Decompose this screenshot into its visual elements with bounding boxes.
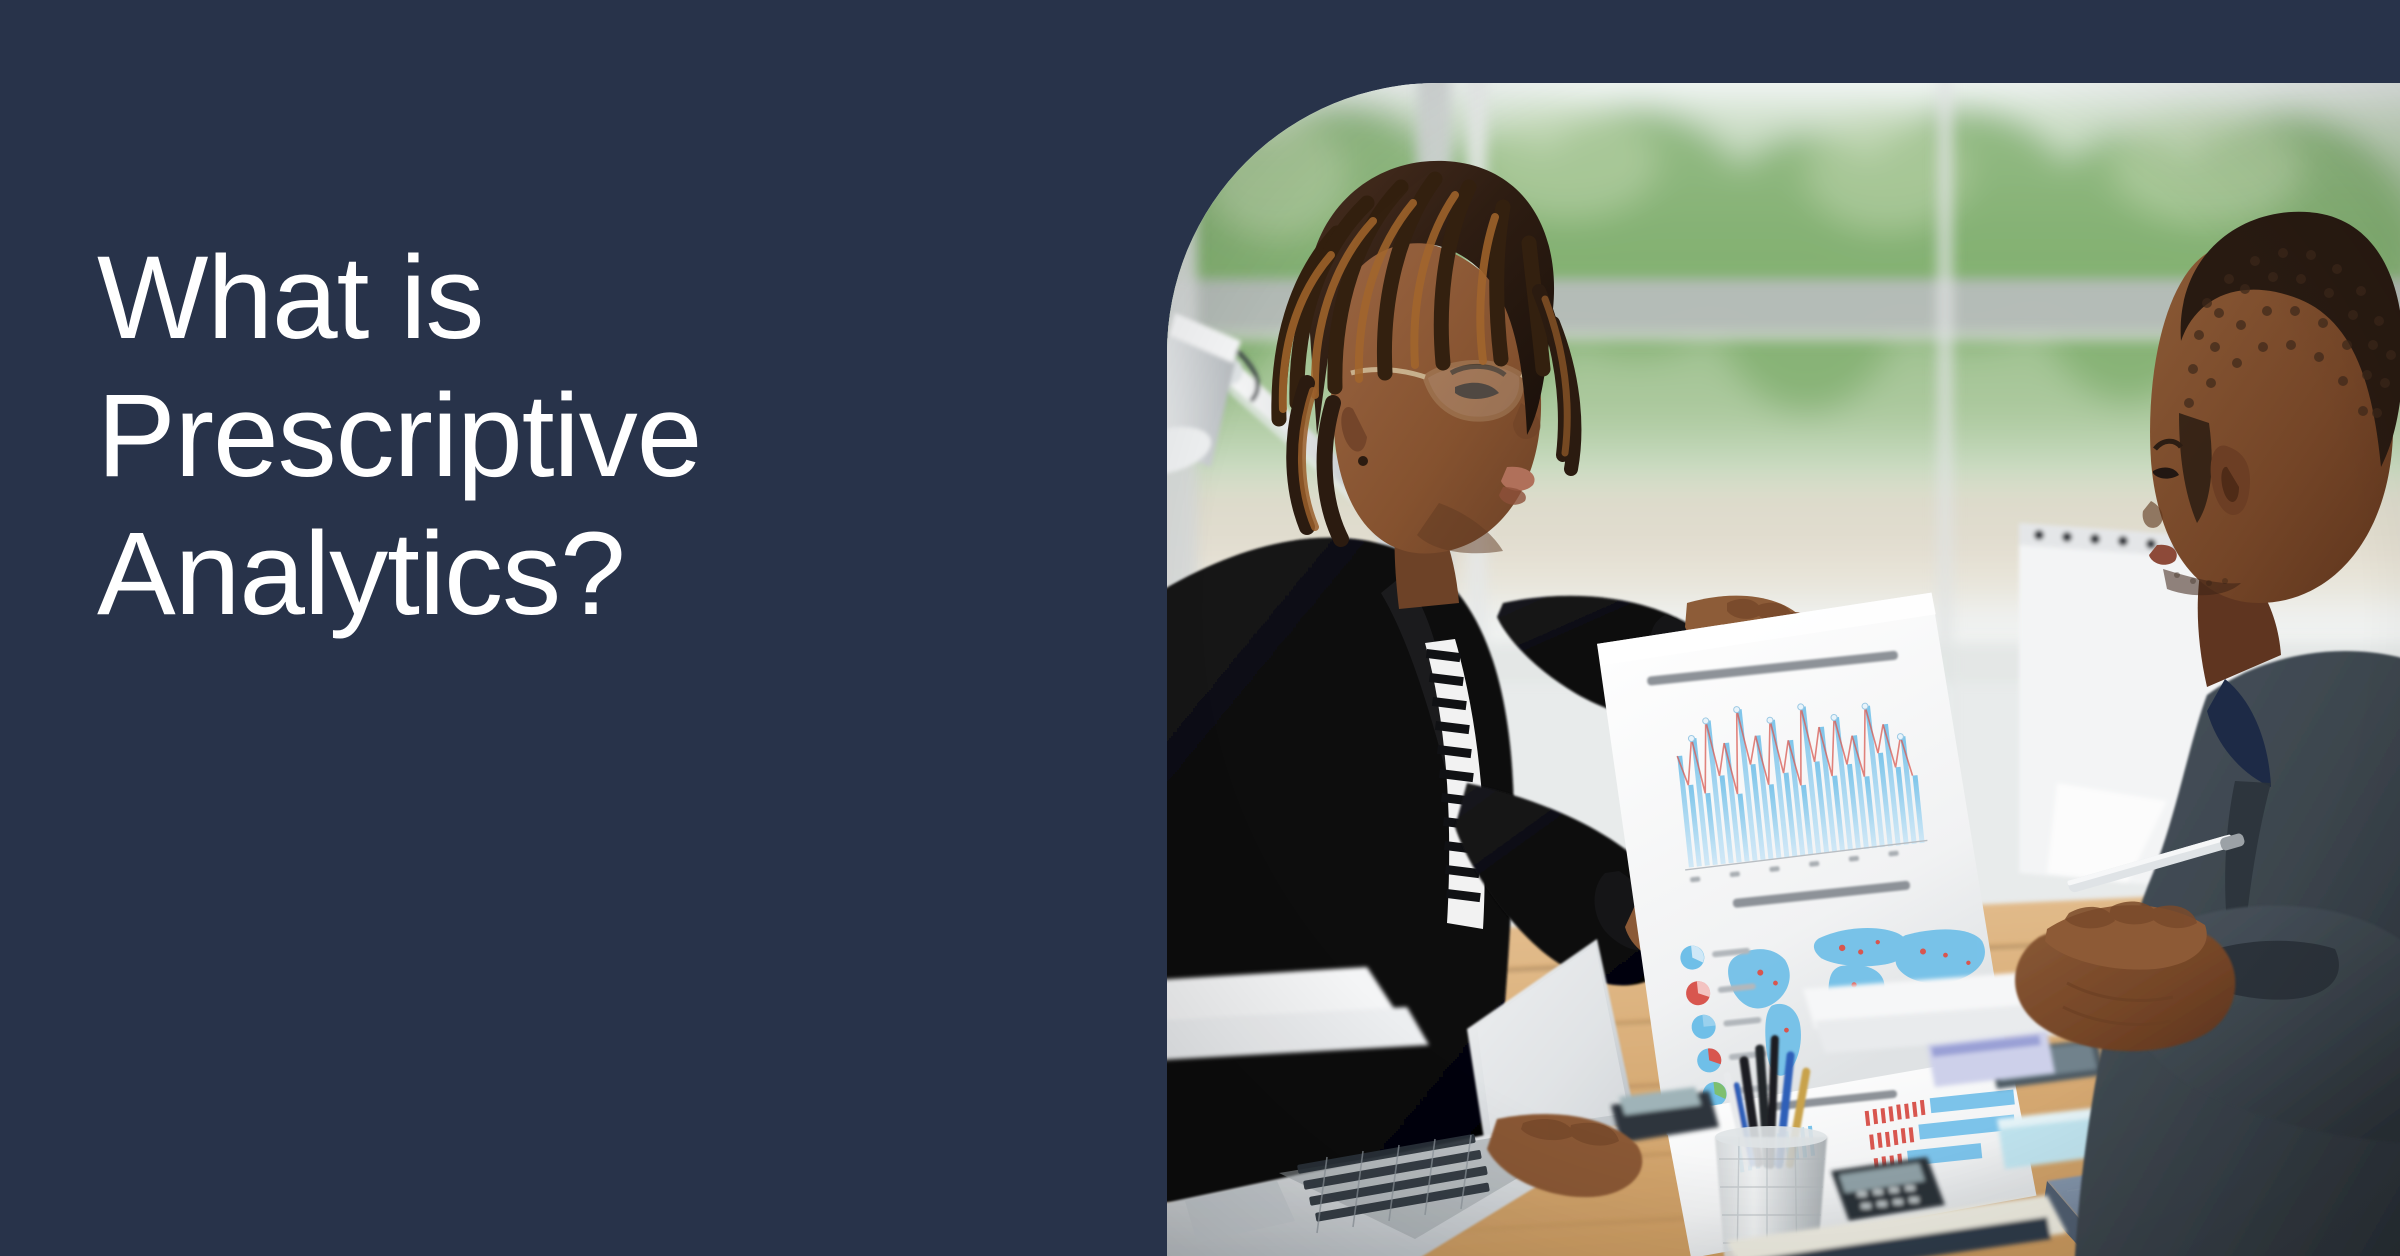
hero-photo-illustration xyxy=(1167,83,2400,1256)
slide-root: What is Prescriptive Analytics? xyxy=(0,0,2400,1256)
hero-photo xyxy=(1167,83,2400,1256)
page-title: What is Prescriptive Analytics? xyxy=(97,229,1117,643)
